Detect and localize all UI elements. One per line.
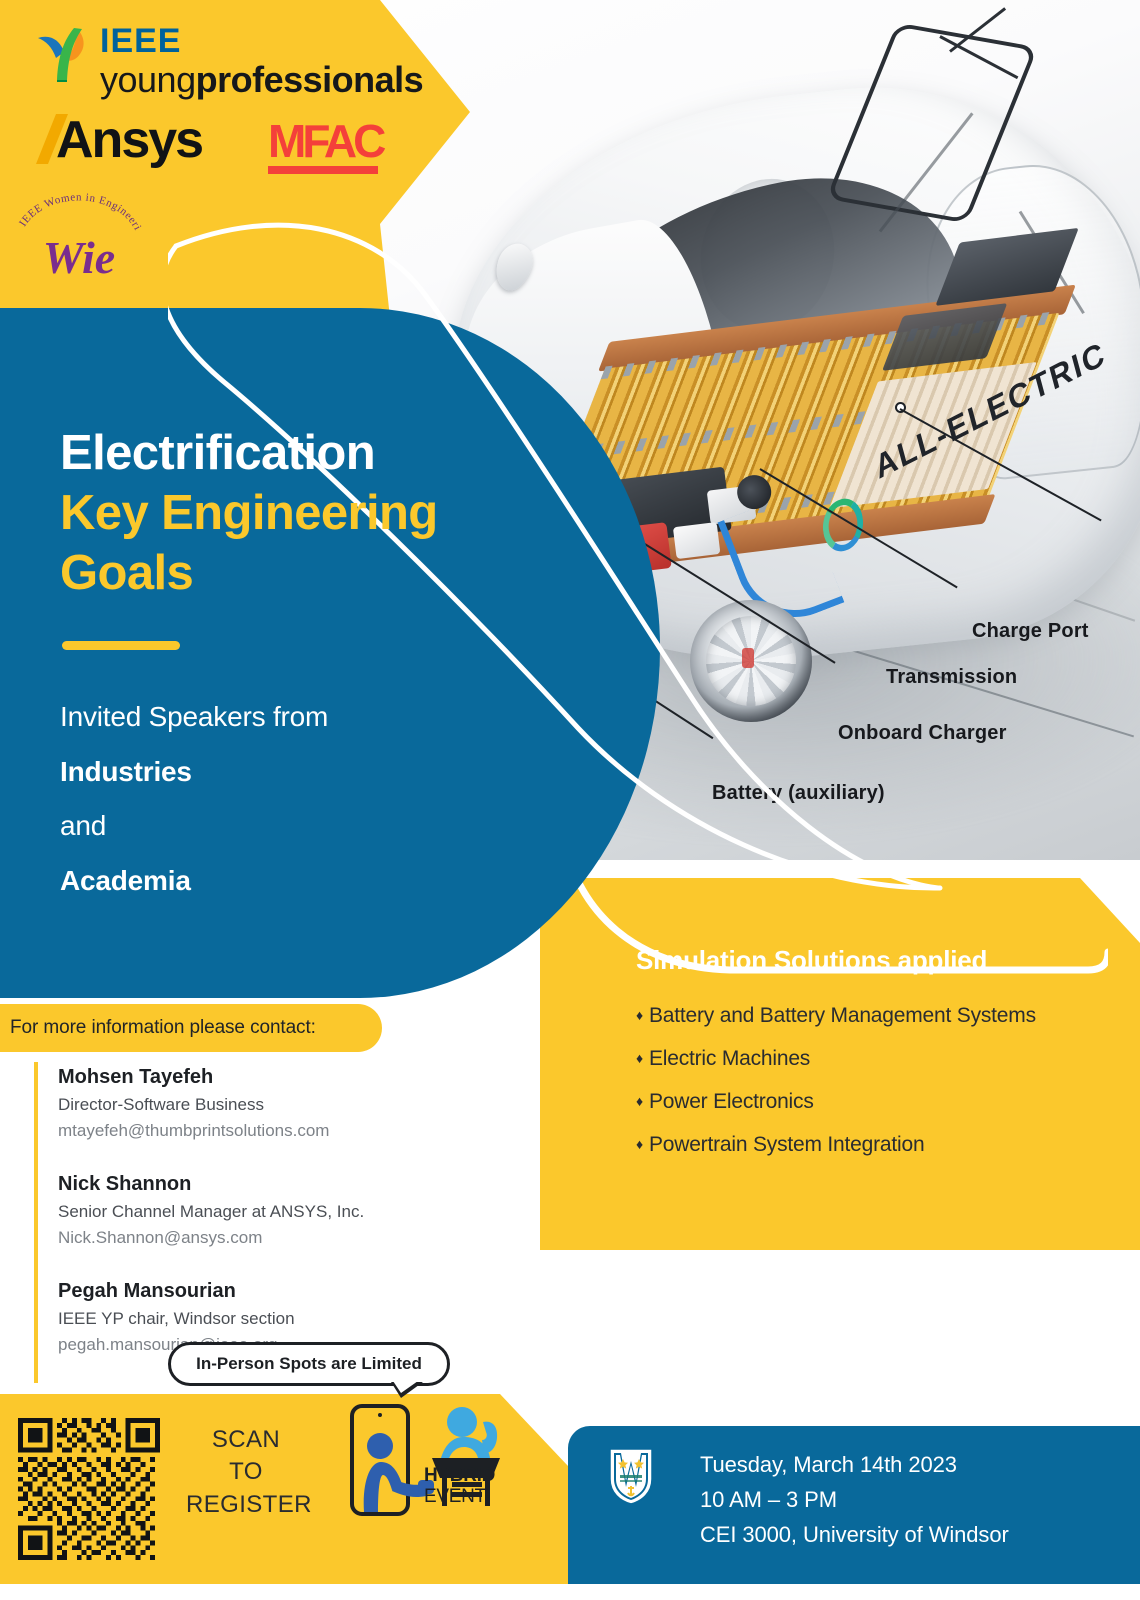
yp-young-text: young [100, 59, 196, 100]
svg-text:IEEE Women in Engineering: IEEE Women in Engineering [14, 192, 144, 232]
remote-attendee-head-icon [367, 1433, 393, 1459]
page-title-line1: Electrification [60, 424, 580, 484]
list-item-label: Powertrain System Integration [649, 1133, 925, 1156]
event-info-block: Tuesday, March 14th 2023 10 AM – 3 PM CE… [700, 1448, 1009, 1552]
simulation-heading: Simulation Solutions applied [636, 945, 987, 976]
mfac-logo: MFAC [268, 118, 388, 174]
mfac-underline [268, 166, 378, 174]
university-of-windsor-shield-icon [608, 1447, 654, 1505]
event-time: 10 AM – 3 PM [700, 1483, 1009, 1518]
connector-white [673, 522, 721, 559]
callout-transmission: Transmission [886, 666, 1017, 689]
ansys-logo: Ansys [34, 112, 214, 172]
contact-role: Senior Channel Manager at ANSYS, Inc. [58, 1199, 434, 1225]
contact-entry: Nick Shannon Senior Channel Manager at A… [58, 1169, 434, 1250]
contact-header-chip: For more information please contact: [0, 1004, 382, 1052]
page-title-line3: Goals [60, 544, 580, 604]
bullet-icon: ♦ [636, 1093, 643, 1109]
ieee-wordmark: IEEE [100, 24, 423, 58]
callout-battery-auxiliary: Battery (auxiliary) [712, 782, 885, 805]
wie-arc-label: IEEE Women in Engineering [14, 192, 144, 232]
bullet-icon: ♦ [636, 1136, 643, 1152]
event-location: CEI 3000, University of Windsor [700, 1518, 1009, 1553]
limited-spots-callout: In-Person Spots are Limited [168, 1342, 450, 1386]
list-item: ♦Electric Machines [636, 1048, 1106, 1069]
contact-role: IEEE YP chair, Windsor section [58, 1306, 434, 1332]
presenter-arm-icon [482, 1422, 497, 1453]
wie-script-mark: Wie [14, 235, 144, 281]
contact-header-label: For more information please contact: [0, 1017, 316, 1039]
wie-arc-text-icon: IEEE Women in Engineering [14, 192, 144, 234]
simulation-list: ♦Battery and Battery Management Systems … [636, 1005, 1106, 1177]
subtitle-industries: Industries [60, 745, 580, 800]
hybrid-word: HYBRID [424, 1466, 495, 1487]
mfac-wordmark: MFAC [268, 118, 388, 164]
scan-line-3: REGISTER [186, 1489, 306, 1521]
contact-name: Nick Shannon [58, 1169, 434, 1199]
ieee-yp-mark-icon [34, 22, 92, 86]
poster-root: ALL-ELECTRIC Charge Port Transmission On… [0, 0, 1140, 1600]
bullet-icon: ♦ [636, 1007, 643, 1023]
contact-email[interactable]: mtayefeh@thumbprintsolutions.com [58, 1118, 434, 1144]
callout-charge-port: Charge Port [972, 620, 1089, 643]
page-title-line2: Key Engineering [60, 484, 580, 544]
brake-caliper [742, 648, 754, 668]
bullet-icon: ♦ [636, 1050, 643, 1066]
yp-professionals-text: professionals [196, 59, 424, 100]
limited-spots-label: In-Person Spots are Limited [196, 1354, 422, 1374]
subtitle-and: and [60, 799, 580, 854]
subtitle-invited: Invited Speakers from [60, 690, 580, 745]
scan-line-2: TO [186, 1456, 306, 1488]
event-date: Tuesday, March 14th 2023 [700, 1448, 1009, 1483]
contact-name: Pegah Mansourian [58, 1276, 434, 1306]
list-item-label: Electric Machines [649, 1047, 810, 1070]
list-item-label: Battery and Battery Management Systems [649, 1004, 1036, 1027]
contact-email[interactable]: Nick.Shannon@ansys.com [58, 1225, 434, 1251]
list-item: ♦Power Electronics [636, 1091, 1106, 1112]
presenter-head-icon [447, 1407, 477, 1437]
callout-onboard-charger: Onboard Charger [838, 722, 1007, 745]
qr-code[interactable] [18, 1418, 160, 1560]
contact-list: Mohsen Tayefeh Director-Software Busines… [34, 1062, 434, 1383]
list-item: ♦Powertrain System Integration [636, 1134, 1106, 1155]
scan-to-register-text: SCAN TO REGISTER [186, 1424, 306, 1521]
list-item-label: Power Electronics [649, 1090, 814, 1113]
subtitle-academia: Academia [60, 854, 580, 909]
list-item: ♦Battery and Battery Management Systems [636, 1005, 1106, 1026]
event-word: EVENT [424, 1487, 495, 1508]
title-block: Electrification Key Engineering Goals In… [60, 424, 580, 909]
contact-name: Mohsen Tayefeh [58, 1062, 434, 1092]
ieee-wie-logo: IEEE Women in Engineering Wie [14, 192, 144, 284]
contact-entry: Mohsen Tayefeh Director-Software Busines… [58, 1062, 434, 1143]
ieee-young-professionals-logo: IEEE youngprofessionals [34, 22, 434, 96]
phone-icon [352, 1406, 408, 1514]
scan-line-1: SCAN [186, 1424, 306, 1456]
hybrid-event-label: HYBRID EVENT [424, 1466, 495, 1507]
contact-role: Director-Software Business [58, 1092, 434, 1118]
ansys-wordmark: Ansys [56, 114, 202, 166]
title-divider [62, 641, 180, 650]
